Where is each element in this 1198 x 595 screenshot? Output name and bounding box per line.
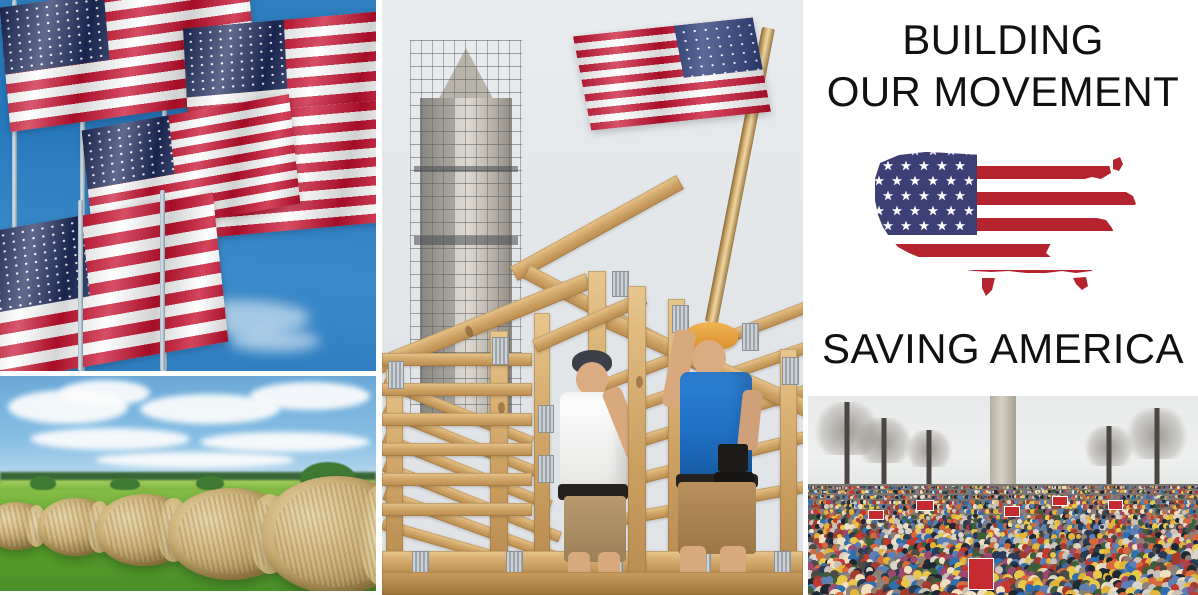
florida-tail-shape xyxy=(1073,277,1088,290)
slogan-card: BUILDING OUR MOVEMENT xyxy=(808,0,1198,388)
scaffold-band xyxy=(414,166,518,172)
connector-plate xyxy=(612,271,629,297)
flag-fabric-shading xyxy=(573,17,771,130)
protest-sign xyxy=(916,500,934,511)
protest-sign xyxy=(968,558,994,590)
cloud-shape xyxy=(60,380,150,406)
connector-plate xyxy=(538,455,554,483)
king-post-foreground xyxy=(628,286,646,586)
stud xyxy=(386,369,403,569)
bale-face xyxy=(358,483,376,587)
protest-sign xyxy=(868,510,884,520)
cloud-shape xyxy=(250,382,370,410)
connector-plate xyxy=(782,357,799,385)
girt xyxy=(382,503,532,516)
connector-plate xyxy=(388,361,404,389)
shrub xyxy=(110,478,140,490)
texas-tail-shape xyxy=(982,278,995,296)
protest-sign xyxy=(1052,496,1068,506)
flagpole xyxy=(160,190,165,371)
connector-plate xyxy=(492,337,509,365)
washington-monument-distant xyxy=(990,396,1016,488)
cloud-shape xyxy=(230,330,320,352)
photo-collage: BUILDING OUR MOVEMENT xyxy=(0,0,1198,595)
girt xyxy=(382,383,532,396)
american-flags-photo xyxy=(0,0,376,371)
deck-board-foreground xyxy=(382,572,803,595)
protest-sign xyxy=(1108,500,1123,510)
tree-trunk xyxy=(882,418,887,490)
shrub xyxy=(30,476,56,490)
slogan-line-3: SAVING AMERICA xyxy=(808,325,1198,373)
girt xyxy=(382,353,532,366)
worker-blue-shirt xyxy=(662,324,772,592)
hay-bales-field-photo xyxy=(0,376,376,591)
usa-flag-map xyxy=(866,140,1146,316)
tree-trunk xyxy=(1155,408,1160,490)
flag-fabric-shading xyxy=(0,192,228,371)
construction-workers-monument-photo xyxy=(382,0,803,595)
rally-crowd-photo xyxy=(808,396,1198,595)
bare-tree xyxy=(904,430,954,490)
tree-trunk xyxy=(1107,426,1112,490)
connector-plate xyxy=(538,405,554,433)
maine-shape xyxy=(1113,157,1123,171)
crowd xyxy=(808,484,1198,595)
cloud-shape xyxy=(95,452,295,468)
girt xyxy=(382,413,532,426)
girt xyxy=(382,443,532,456)
slogan-line-1: BUILDING xyxy=(808,16,1198,64)
bare-tree xyxy=(1082,426,1136,490)
scaffold-band xyxy=(414,236,518,245)
us-flag xyxy=(573,17,771,130)
protest-sign xyxy=(1004,506,1020,517)
map-flag-fill xyxy=(866,140,1146,316)
worker-shorts xyxy=(678,482,756,554)
flagpole xyxy=(78,200,83,371)
cloud-shape xyxy=(200,432,370,452)
slogan-line-2: OUR MOVEMENT xyxy=(808,68,1198,116)
girt xyxy=(382,473,532,486)
worker-head xyxy=(692,340,726,376)
cloud-shape xyxy=(30,428,190,450)
tree-trunk xyxy=(927,430,932,490)
us-flag xyxy=(0,192,228,371)
tool-pouch xyxy=(718,444,748,472)
tree-trunk xyxy=(845,402,850,488)
flag-canton xyxy=(866,140,977,235)
